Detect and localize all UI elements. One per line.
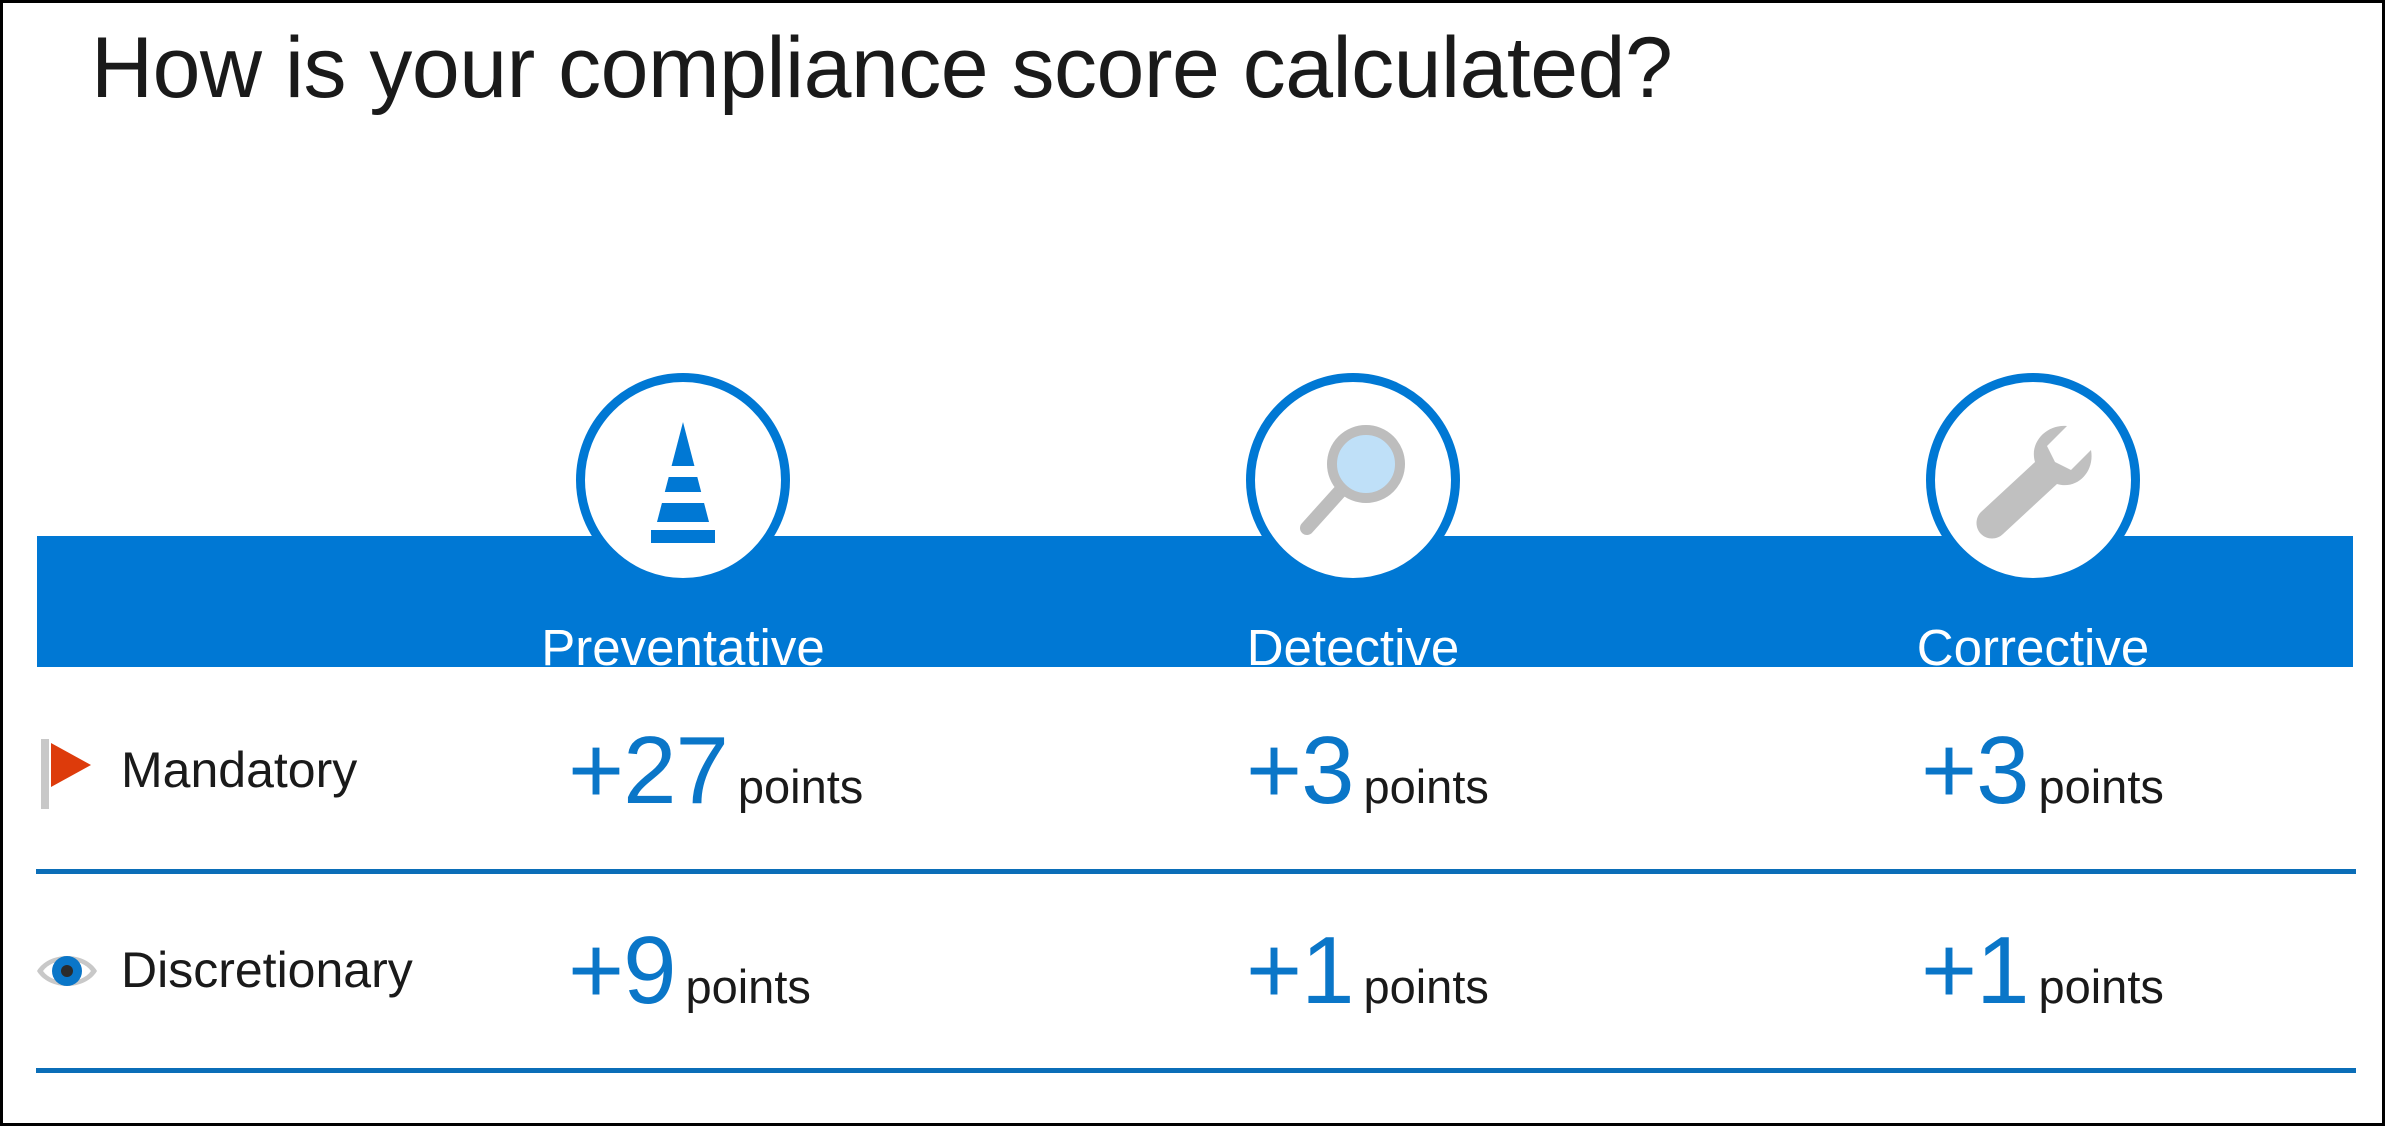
magnifying-glass-icon [1283,410,1423,550]
column-label-corrective: Corrective [1883,618,2183,677]
flag-icon-wrap [33,735,105,813]
traffic-cone-icon [613,410,753,550]
row-label-mandatory: Mandatory [121,741,357,799]
table-row-discretionary: Discretionary +9points +1points +1points [3,903,2385,1103]
page-title: How is your compliance score calculated? [91,25,1672,111]
cell-mandatory-detective: +3points [1246,711,1666,831]
flag-icon [33,735,105,813]
cell-discretionary-corrective: +1points [1921,911,2341,1031]
cell-mandatory-preventative: +27points [568,711,988,831]
cell-value: +1 [1921,917,2028,1024]
cell-unit: points [685,960,810,1013]
column-icon-circle-preventative [576,373,790,587]
compliance-score-slide: How is your compliance score calculated?… [0,0,2385,1126]
cell-unit: points [2038,760,2163,813]
column-header-detective: Detective [1203,373,1503,587]
eye-icon [33,935,105,1013]
cell-unit: points [738,760,863,813]
row-divider-top [36,869,2356,874]
cell-value: +3 [1246,717,1353,824]
cell-value: +9 [568,917,675,1024]
row-label-discretionary: Discretionary [121,941,413,999]
wrench-icon [1963,410,2103,550]
cell-discretionary-detective: +1points [1246,911,1666,1031]
column-header-corrective: Corrective [1883,373,2183,587]
cell-value: +1 [1246,917,1353,1024]
cell-unit: points [1363,760,1488,813]
cell-mandatory-corrective: +3points [1921,711,2341,831]
eye-icon-wrap [33,935,105,1013]
cell-value: +27 [568,717,728,824]
cell-discretionary-preventative: +9points [568,911,988,1031]
column-header-preventative: Preventative [533,373,833,587]
column-icon-circle-detective [1246,373,1460,587]
column-icon-circle-corrective [1926,373,2140,587]
column-label-preventative: Preventative [533,618,833,677]
cell-unit: points [2038,960,2163,1013]
cell-value: +3 [1921,717,2028,824]
cell-unit: points [1363,960,1488,1013]
column-label-detective: Detective [1203,618,1503,677]
row-divider-bottom [36,1068,2356,1073]
